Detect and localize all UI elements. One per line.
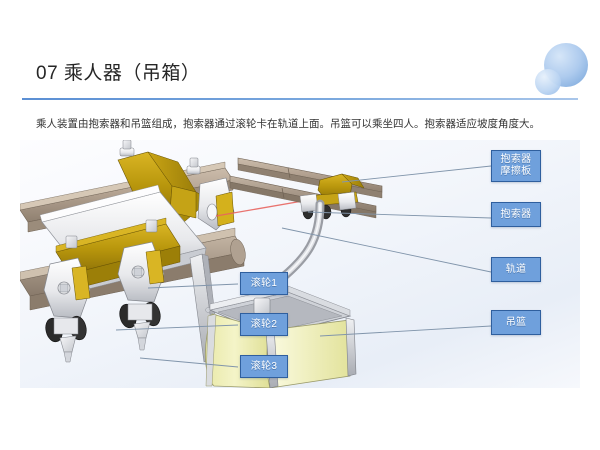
label-gripper-text: 抱索器 bbox=[501, 209, 532, 221]
leader-gripper-friction-plate bbox=[342, 166, 491, 182]
label-cabin[interactable]: 吊篮 bbox=[491, 310, 541, 335]
label-roller-1[interactable]: 滚轮1 bbox=[240, 272, 288, 295]
slide-subtitle: 乘人装置由抱索器和吊篮组成，抱索器通过滚轮卡在轨道上面。吊篮可以乘坐四人。抱索器… bbox=[36, 116, 576, 132]
page-title: 07 乘人器（吊箱） bbox=[36, 58, 200, 85]
decorative-circles bbox=[520, 38, 592, 100]
leader-roller-1 bbox=[148, 284, 238, 288]
label-cabin-text: 吊篮 bbox=[506, 317, 527, 329]
leader-cabin bbox=[320, 326, 491, 336]
slide-root: 07 乘人器（吊箱） 乘人装置由抱索器和吊篮组成，抱索器通过滚轮卡在轨道上面。吊… bbox=[0, 0, 600, 450]
leader-track bbox=[282, 228, 491, 272]
title-divider bbox=[22, 98, 578, 100]
deco-circle-large bbox=[544, 43, 588, 87]
label-track-text: 轨道 bbox=[506, 264, 527, 276]
label-track[interactable]: 轨道 bbox=[491, 257, 541, 282]
leader-roller-2 bbox=[116, 325, 238, 330]
label-roller-2[interactable]: 滚轮2 bbox=[240, 313, 288, 336]
label-gripper-friction-plate-line1: 抱索器 bbox=[501, 154, 532, 166]
leader-gripper bbox=[308, 212, 491, 218]
label-gripper[interactable]: 抱索器 bbox=[491, 202, 541, 227]
label-roller-2-text: 滚轮2 bbox=[251, 319, 277, 331]
label-gripper-friction-plate-line2: 摩擦板 bbox=[501, 166, 532, 178]
label-roller-1-text: 滚轮1 bbox=[251, 278, 277, 290]
deco-circle-small bbox=[535, 69, 561, 95]
leader-roller-3 bbox=[140, 358, 238, 367]
label-gripper-friction-plate[interactable]: 抱索器 摩擦板 bbox=[491, 150, 541, 182]
label-roller-3[interactable]: 滚轮3 bbox=[240, 355, 288, 378]
label-roller-3-text: 滚轮3 bbox=[251, 361, 277, 373]
